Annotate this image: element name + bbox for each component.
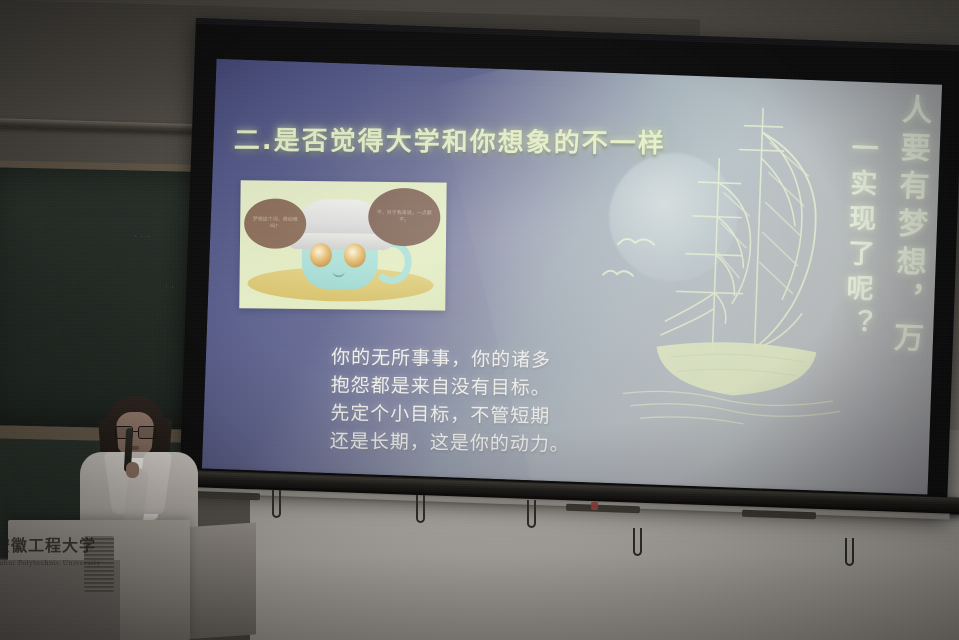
glasses-lens-right <box>138 426 156 439</box>
university-nameplate: 安徽工程大学 Anhui Polytechnic University <box>0 532 90 576</box>
speech-bubble-right: 不，对于我来说，一点都不。 <box>368 188 441 247</box>
projection-screen: 二.是否觉得大学和你想象的不一样 人要有梦想，万 一实现了呢？ 梦想这个词，很幼… <box>179 18 959 515</box>
classroom-presentation-photo: · · · · · <box>0 0 959 640</box>
vertical-text-left: 一实现了呢？ <box>836 133 882 344</box>
rail-marker <box>591 502 598 510</box>
wall-hook <box>416 495 425 523</box>
wall-hook <box>845 538 854 566</box>
body-line: 还是长期，这是你的动力。 <box>330 428 730 462</box>
chalk-mark: · · <box>165 283 175 291</box>
speech-bubble-left: 梦想这个词，很幼稚吗？ <box>244 198 307 249</box>
nameplate-chinese: 安徽工程大学 <box>0 532 90 556</box>
cartoon-eye-right <box>344 243 366 267</box>
wall-hook <box>272 490 281 518</box>
presenter-hand <box>126 462 139 478</box>
slide-body-text: 你的无所事事，你的诸多 抱怨都是来自没有目标。 先定个小目标，不管短期 还是长期… <box>330 343 732 461</box>
nameplate-english: Anhui Polytechnic University <box>0 559 90 567</box>
chalk-mark: · · · <box>134 232 150 241</box>
slide-title: 二.是否觉得大学和你想象的不一样 <box>234 120 834 162</box>
wall-hook <box>633 528 642 556</box>
slide-surface: 二.是否觉得大学和你想象的不一样 人要有梦想，万 一实现了呢？ 梦想这个词，很幼… <box>202 59 942 495</box>
wall-hook <box>527 500 536 528</box>
cartoon-illustration: 梦想这个词，很幼稚吗？ 不，对于我来说，一点都不。 <box>239 180 446 310</box>
glasses-icon <box>115 426 156 437</box>
cartoon-eye-left <box>310 243 332 267</box>
